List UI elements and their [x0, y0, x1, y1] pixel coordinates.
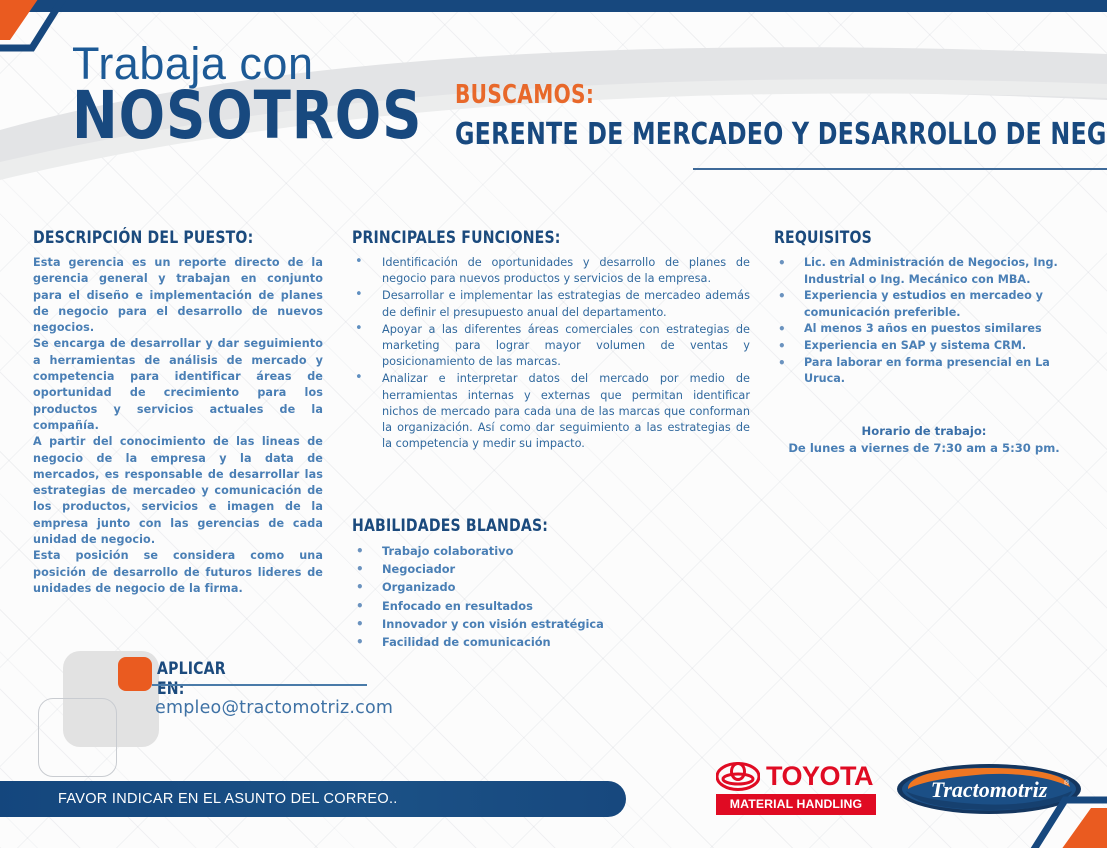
- description-paragraph: A partir del conocimiento de las lineas …: [33, 434, 323, 548]
- soft-skills-list: Trabajo colaborativo Negociador Organiza…: [352, 542, 750, 651]
- toyota-material-handling-label: MATERIAL HANDLING: [716, 794, 876, 815]
- list-item: Facilidad de comunicación: [352, 633, 750, 651]
- list-item: Negociador: [352, 560, 750, 578]
- hero-title-block: Trabaja con NOSOTROS: [72, 40, 453, 148]
- functions-heading: PRINCIPALES FUNCIONES:: [352, 228, 718, 248]
- toyota-ellipses-icon: [716, 762, 760, 791]
- toyota-logo: TOYOTA MATERIAL HANDLING: [716, 762, 876, 815]
- job-title: GERENTE DE MERCADEO Y DESARROLLO DE NEGO…: [455, 117, 1018, 152]
- functions-list: Identificación de oportunidades y desarr…: [352, 255, 750, 452]
- top-accent-bar: [0, 0, 1107, 12]
- column-requirements: REQUISITOS Lic. en Administración de Neg…: [774, 228, 1074, 455]
- apply-email-address[interactable]: empleo@tractomotriz.com: [155, 698, 393, 718]
- list-item: Enfocado en resultados: [352, 597, 750, 615]
- vacancy-title-block: BUSCAMOS: GERENTE DE MERCADEO Y DESARROL…: [455, 80, 1095, 152]
- schedule-hours: De lunes a viernes de 7:30 am a 5:30 pm.: [774, 441, 1074, 455]
- corner-chevron-bottom-right-icon: [999, 768, 1107, 848]
- footer-note-text: FAVOR INDICAR EN EL ASUNTO DEL CORREO..: [58, 791, 398, 807]
- description-paragraph: Esta gerencia es un reporte directo de l…: [33, 255, 323, 336]
- column-functions: PRINCIPALES FUNCIONES: Identificación de…: [352, 228, 750, 453]
- decorative-square-orange: [118, 657, 152, 691]
- list-item: Analizar e interpretar datos del mercado…: [352, 371, 750, 452]
- column-soft-skills: HABILIDADES BLANDAS: Trabajo colaborativ…: [352, 516, 750, 651]
- schedule-title: Horario de trabajo:: [774, 424, 1074, 438]
- list-item: Experiencia en SAP y sistema CRM.: [774, 338, 1074, 355]
- column-description: DESCRIPCIÓN DEL PUESTO: Esta gerencia es…: [33, 228, 323, 597]
- work-schedule: Horario de trabajo: De lunes a viernes d…: [774, 424, 1074, 455]
- corner-chevron-top-left-icon: [0, 0, 116, 100]
- header: Trabaja con NOSOTROS BUSCAMOS: GERENTE D…: [0, 12, 1107, 222]
- description-paragraph: Se encarga de desarrollar y dar seguimie…: [33, 336, 323, 434]
- job-posting-flyer: Trabaja con NOSOTROS BUSCAMOS: GERENTE D…: [0, 0, 1107, 848]
- list-item: Desarrollar e implementar las estrategia…: [352, 288, 750, 320]
- list-item: Apoyar a las diferentes áreas comerciale…: [352, 322, 750, 371]
- list-item: Al menos 3 años en puestos similares: [774, 321, 1074, 338]
- toyota-wordmark: TOYOTA: [766, 763, 873, 790]
- soft-skills-heading: HABILIDADES BLANDAS:: [352, 516, 718, 536]
- job-title-underline: [693, 168, 1107, 170]
- apply-underline: [152, 684, 367, 686]
- requirements-list: Lic. en Administración de Negocios, Ing.…: [774, 255, 1074, 388]
- requirements-heading: REQUISITOS: [774, 228, 1050, 248]
- looking-for-label: BUSCAMOS:: [455, 80, 1005, 110]
- list-item: Identificación de oportunidades y desarr…: [352, 255, 750, 287]
- list-item: Organizado: [352, 578, 750, 596]
- list-item: Innovador y con visión estratégica: [352, 615, 750, 633]
- list-item: Para laborar en forma presencial en La U…: [774, 355, 1074, 388]
- list-item: Lic. en Administración de Negocios, Ing.…: [774, 255, 1074, 288]
- description-paragraph: Esta posición se considera como una posi…: [33, 548, 323, 597]
- apply-label: APLICAR EN:: [157, 659, 226, 699]
- decorative-square-outline: [38, 698, 117, 777]
- footer-note-bar: FAVOR INDICAR EN EL ASUNTO DEL CORREO..: [0, 781, 626, 817]
- list-item: Experiencia y estudios en mercadeo y com…: [774, 288, 1074, 321]
- hero-line-2: NOSOTROS: [72, 85, 422, 148]
- list-item: Trabajo colaborativo: [352, 542, 750, 560]
- description-heading: DESCRIPCIÓN DEL PUESTO:: [33, 228, 300, 248]
